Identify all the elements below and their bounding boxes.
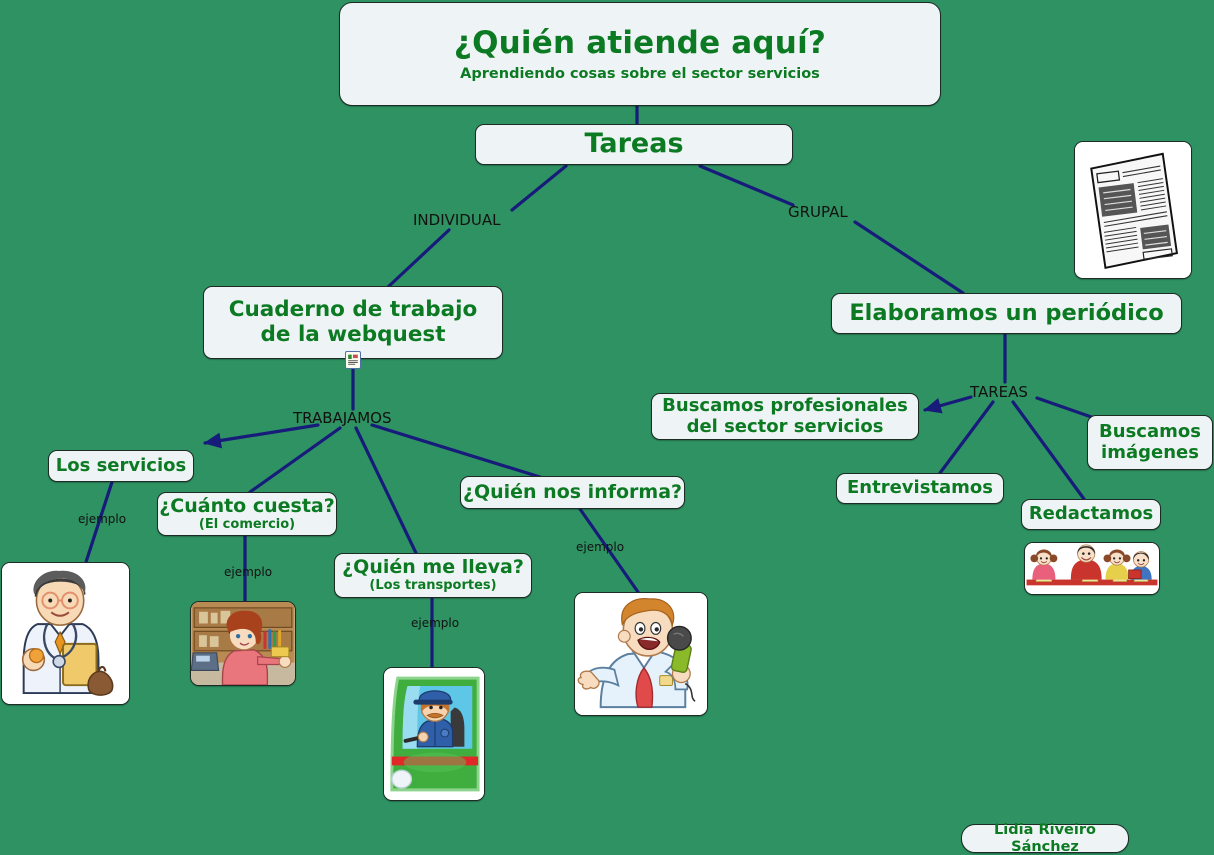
edge-label-trabajamos: TRABAJAMOS [293, 409, 391, 427]
node-entrevistamos-label: Entrevistamos [847, 478, 993, 498]
edge-individual-cuaderno [388, 230, 449, 287]
node-buscamos-prof-line2: del sector servicios [687, 417, 884, 437]
node-buscamos-imagenes[interactable]: Buscamos imágenes [1087, 415, 1213, 470]
doctor-illustration [2, 563, 129, 704]
node-cuanto-label: ¿Cuánto cuesta? [159, 496, 335, 517]
edge-label-tareas-grupo: TAREAS [970, 383, 1028, 401]
node-cuaderno-de-trabajo[interactable]: Cuaderno de trabajo de la webquest [203, 286, 503, 359]
edge-label-individual: INDIVIDUAL [413, 211, 500, 229]
title-main: ¿Quién atiende aquí? [454, 26, 826, 61]
bus-driver-illustration [384, 668, 484, 800]
mindmap-canvas: ¿Quién atiende aquí? Aprendiendo cosas s… [0, 0, 1214, 855]
image-doctor[interactable] [1, 562, 130, 705]
node-redactamos[interactable]: Redactamos [1021, 499, 1161, 530]
image-shop-clerk[interactable] [190, 601, 296, 686]
node-cuanto-sublabel: (El comercio) [199, 518, 295, 533]
edge-tareasR-redactamos [1013, 402, 1084, 499]
edge-trabajamos-cuanto [250, 428, 340, 492]
edge-tareas-grupal [700, 166, 793, 205]
edge-label-grupal: GRUPAL [788, 203, 848, 221]
edge-label-ejemplo-informa: ejemplo [576, 540, 624, 554]
edge-label-ejemplo-servicios: ejemplo [78, 512, 126, 526]
note-document-icon[interactable] [345, 351, 361, 369]
edge-tareasR-entrevistamos [940, 402, 993, 473]
node-tareas[interactable]: Tareas [475, 124, 793, 165]
node-buscamos-prof-line1: Buscamos profesionales [662, 396, 908, 416]
node-entrevistamos[interactable]: Entrevistamos [836, 473, 1004, 504]
node-quien-nos-informa[interactable]: ¿Quién nos informa? [460, 476, 685, 509]
reporter-illustration [575, 593, 707, 715]
node-cuaderno-line1: Cuaderno de trabajo [229, 298, 478, 322]
edge-trabajamos-lleva [356, 428, 416, 553]
node-quien-me-lleva[interactable]: ¿Quién me lleva? (Los transportes) [334, 553, 532, 598]
node-elaboramos-un-periodico[interactable]: Elaboramos un periódico [831, 293, 1182, 334]
node-redactamos-label: Redactamos [1029, 504, 1153, 524]
node-tareas-label: Tareas [584, 129, 683, 159]
edge-label-ejemplo-lleva: ejemplo [411, 616, 459, 630]
children-working-illustration [1025, 543, 1159, 594]
shop-clerk-illustration [191, 602, 295, 685]
node-los-servicios[interactable]: Los servicios [48, 450, 194, 482]
node-cuanto-cuesta[interactable]: ¿Cuánto cuesta? (El comercio) [157, 492, 337, 536]
node-lleva-label: ¿Quién me lleva? [342, 557, 524, 578]
edge-grupal-periodico [855, 222, 963, 293]
note-icon-glyph [346, 352, 360, 368]
newspaper-illustration [1075, 142, 1191, 278]
image-reporter[interactable] [574, 592, 708, 716]
node-author-credit: Lidia Riveiro Sánchez [961, 824, 1129, 853]
node-informa-label: ¿Quién nos informa? [463, 482, 682, 503]
image-bus-driver[interactable] [383, 667, 485, 801]
node-imagenes-line2: imágenes [1101, 443, 1199, 463]
author-name: Lidia Riveiro Sánchez [962, 822, 1128, 854]
edge-trabajamos-informa [372, 425, 540, 477]
node-periodico-label: Elaboramos un periódico [849, 301, 1163, 326]
image-newspaper[interactable] [1074, 141, 1192, 279]
node-buscamos-profesionales[interactable]: Buscamos profesionales del sector servic… [651, 393, 919, 440]
node-servicios-label: Los servicios [56, 456, 186, 476]
node-cuaderno-line2: de la webquest [260, 323, 445, 347]
image-kids-working[interactable] [1024, 542, 1160, 595]
title-subtitle: Aprendiendo cosas sobre el sector servic… [460, 66, 820, 82]
node-title[interactable]: ¿Quién atiende aquí? Aprendiendo cosas s… [339, 2, 941, 106]
edge-label-ejemplo-cuanto: ejemplo [224, 565, 272, 579]
edge-tareas-individual [512, 166, 566, 210]
node-lleva-sublabel: (Los transportes) [369, 579, 496, 594]
edge-tareasR-buscamos-prof [925, 397, 971, 410]
edge-trabajamos-servicios [205, 425, 318, 443]
node-imagenes-line1: Buscamos [1099, 422, 1201, 442]
